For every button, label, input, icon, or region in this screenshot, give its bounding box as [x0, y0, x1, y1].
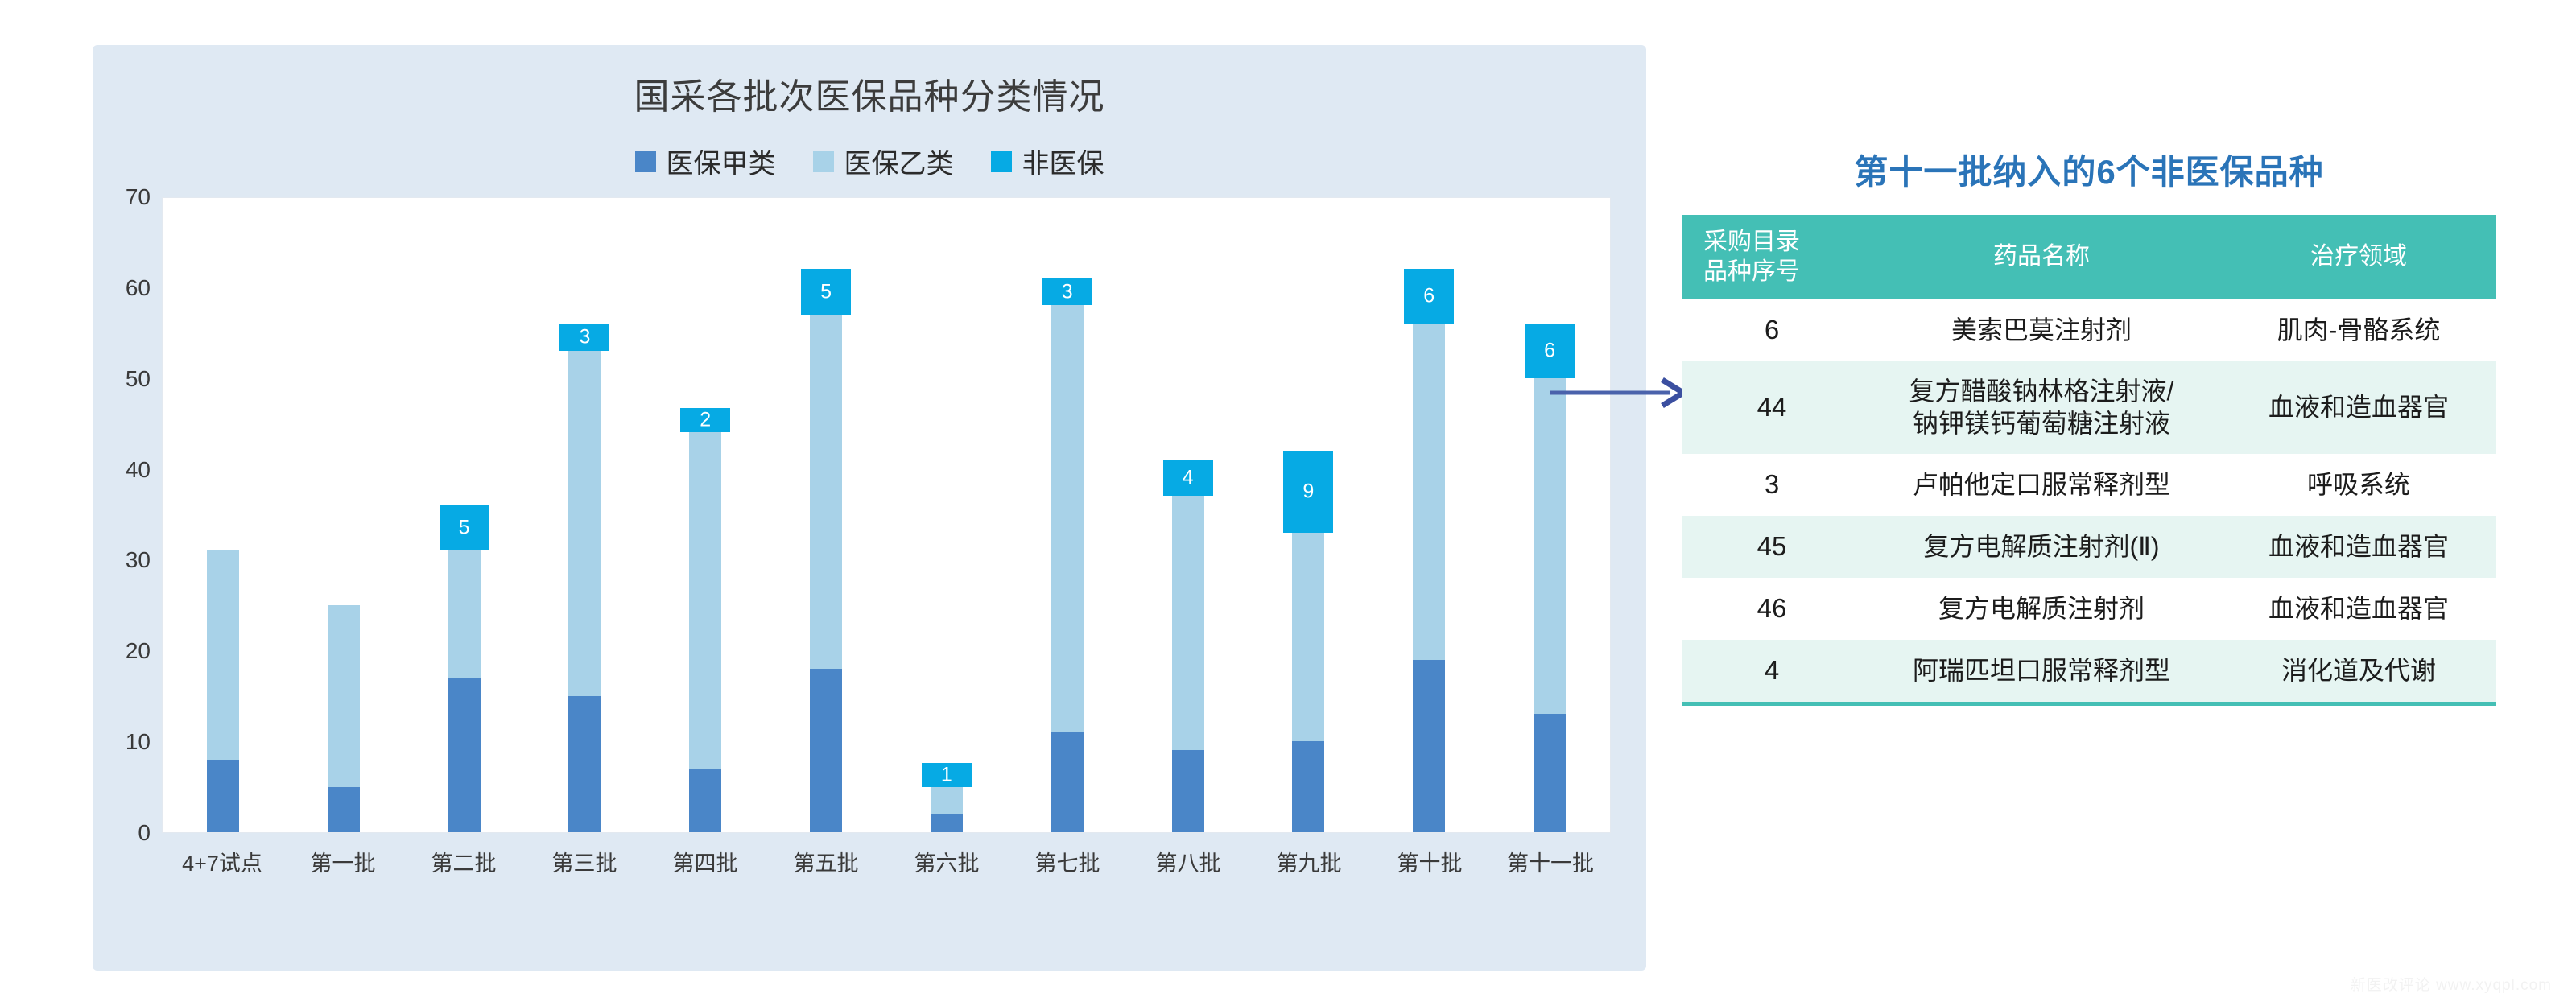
bar-segment-insurance-a[interactable]: [931, 814, 963, 832]
bar-slot-4[interactable]: 2: [645, 198, 766, 832]
bar-slot-3[interactable]: 3: [524, 198, 645, 832]
bar-segment-insurance-b[interactable]: [207, 550, 239, 760]
bar-segment-non-insurance[interactable]: 6: [1404, 269, 1454, 324]
cell-therapeutic-area: 肌肉-骨骼系统: [2222, 299, 2495, 361]
cell-catalog-no: 46: [1682, 578, 1861, 640]
x-axis-tick-7: 第七批: [1007, 846, 1128, 894]
bar-slot-8[interactable]: 4: [1128, 198, 1249, 832]
table-row[interactable]: 6美索巴莫注射剂肌肉-骨骼系统: [1682, 299, 2495, 361]
bar-segment-insurance-a[interactable]: [810, 669, 842, 832]
bar-slot-1[interactable]: [283, 198, 404, 832]
cell-catalog-no: 44: [1682, 361, 1861, 454]
table-header-row: 采购目录品种序号 药品名称 治疗领域: [1682, 215, 2495, 299]
x-axis-tick-0: 4+7试点: [162, 846, 283, 894]
bar-segment-insurance-b[interactable]: [328, 605, 360, 787]
y-axis-tick: 10: [126, 729, 151, 755]
table-row[interactable]: 4阿瑞匹坦口服常释剂型消化道及代谢: [1682, 640, 2495, 702]
table-bottom-border: [1682, 702, 2495, 706]
bar-stack[interactable]: [328, 605, 360, 832]
table-footer-rule: [1682, 702, 2495, 706]
cell-therapeutic-area: 消化道及代谢: [2222, 640, 2495, 702]
y-axis-tick: 30: [126, 547, 151, 573]
bar-group: 5325134966: [163, 198, 1610, 832]
bar-value-label: 4: [1183, 468, 1194, 488]
bar-segment-insurance-b[interactable]: [568, 351, 601, 696]
table-row[interactable]: 44复方醋酸钠林格注射液/钠钾镁钙葡萄糖注射液血液和造血器官: [1682, 361, 2495, 454]
cell-catalog-no: 45: [1682, 516, 1861, 578]
bar-slot-9[interactable]: 9: [1248, 198, 1368, 832]
bar-segment-insurance-b[interactable]: [1534, 378, 1566, 715]
bar-value-label: 9: [1302, 481, 1314, 501]
y-axis-tick: 0: [138, 820, 151, 846]
bar-segment-insurance-a[interactable]: [448, 678, 481, 832]
y-axis-tick: 70: [126, 184, 151, 210]
bar-segment-insurance-a[interactable]: [1172, 750, 1204, 832]
cell-catalog-no: 3: [1682, 454, 1861, 516]
bar-value-label: 5: [820, 282, 832, 302]
chart-panel: 国采各批次医保品种分类情况 医保甲类医保乙类非医保 70605040302010…: [93, 45, 1646, 971]
x-axis-tick-9: 第九批: [1249, 846, 1369, 894]
bar-stack[interactable]: 3: [1051, 305, 1084, 832]
table-row[interactable]: 3卢帕他定口服常释剂型呼吸系统: [1682, 454, 2495, 516]
legend-label: 医保甲类: [667, 142, 776, 181]
legend-swatch-icon: [635, 151, 656, 172]
connector-arrow: [1550, 377, 1695, 409]
bar-segment-insurance-b[interactable]: [1172, 496, 1204, 750]
x-axis-tick-2: 第二批: [403, 846, 524, 894]
y-axis-tick: 20: [126, 638, 151, 664]
bar-segment-insurance-a[interactable]: [1534, 714, 1566, 832]
bar-value-label: 5: [459, 517, 470, 538]
x-axis-tick-11: 第十一批: [1490, 846, 1611, 894]
bar-slot-5[interactable]: 5: [766, 198, 886, 832]
x-axis-tick-10: 第十批: [1369, 846, 1490, 894]
bar-value-label: 6: [1544, 340, 1555, 361]
bar-stack[interactable]: 2: [689, 432, 721, 832]
bar-segment-non-insurance[interactable]: 9: [1283, 451, 1333, 533]
table-row[interactable]: 45复方电解质注射剂(Ⅱ)血液和造血器官: [1682, 516, 2495, 578]
legend-feiyibao[interactable]: 非医保: [991, 142, 1104, 181]
cell-drug-name: 复方醋酸钠林格注射液/钠钾镁钙葡萄糖注射液: [1861, 361, 2222, 454]
y-axis-tick: 60: [126, 275, 151, 301]
bar-stack[interactable]: 4: [1172, 496, 1204, 832]
legend-label: 非医保: [1022, 142, 1104, 181]
bar-slot-2[interactable]: 5: [404, 198, 525, 832]
cell-therapeutic-area: 呼吸系统: [2222, 454, 2495, 516]
x-axis-tick-8: 第八批: [1128, 846, 1249, 894]
bar-value-label: 3: [1062, 282, 1073, 302]
bar-value-label: 6: [1423, 287, 1435, 307]
non-insurance-varieties-table: 采购目录品种序号 药品名称 治疗领域 6美索巴莫注射剂肌肉-骨骼系统44复方醋酸…: [1682, 215, 2495, 706]
bar-segment-insurance-b[interactable]: [1413, 324, 1445, 660]
table-panel: 第十一批纳入的6个非医保品种 采购目录品种序号 药品名称 治疗领域 6美索巴莫注…: [1682, 145, 2495, 706]
table-row[interactable]: 46复方电解质注射剂血液和造血器官: [1682, 578, 2495, 640]
bar-slot-11[interactable]: 6: [1489, 198, 1610, 832]
x-axis-tick-1: 第一批: [283, 846, 403, 894]
bar-segment-insurance-b[interactable]: [1051, 305, 1084, 732]
bar-segment-insurance-a[interactable]: [207, 760, 239, 832]
cell-drug-name: 复方电解质注射剂(Ⅱ): [1861, 516, 2222, 578]
legend-swatch-icon: [813, 151, 834, 172]
bar-segment-insurance-a[interactable]: [1051, 732, 1084, 832]
cell-therapeutic-area: 血液和造血器官: [2222, 516, 2495, 578]
cell-catalog-no: 6: [1682, 299, 1861, 361]
bar-stack[interactable]: 5: [448, 550, 481, 832]
bar-slot-7[interactable]: 3: [1007, 198, 1128, 832]
legend-yibao[interactable]: 医保乙类: [813, 142, 954, 181]
legend-swatch-icon: [991, 151, 1012, 172]
bar-stack[interactable]: [207, 550, 239, 832]
bar-value-label: 2: [700, 410, 711, 431]
bar-value-label: 3: [579, 327, 590, 347]
bar-segment-insurance-b[interactable]: [689, 432, 721, 769]
bar-segment-non-insurance[interactable]: 4: [1163, 460, 1213, 496]
bar-segment-non-insurance[interactable]: 1: [922, 763, 972, 787]
y-axis: 706050403020100: [93, 197, 162, 833]
table-header: 采购目录品种序号 药品名称 治疗领域: [1682, 215, 2495, 299]
x-axis-tick-6: 第六批: [886, 846, 1007, 894]
bar-segment-insurance-b[interactable]: [448, 550, 481, 678]
bar-slot-6[interactable]: 1: [886, 198, 1007, 832]
bar-segment-non-insurance[interactable]: 5: [440, 505, 489, 550]
x-axis-tick-3: 第三批: [524, 846, 645, 894]
cell-drug-name: 卢帕他定口服常释剂型: [1861, 454, 2222, 516]
bar-segment-insurance-b[interactable]: [1292, 533, 1324, 742]
infographic-root: 国采各批次医保品种分类情况 医保甲类医保乙类非医保 70605040302010…: [0, 0, 2576, 1006]
bar-segment-insurance-a[interactable]: [1292, 741, 1324, 832]
legend-label: 医保乙类: [844, 142, 954, 181]
bar-segment-insurance-a[interactable]: [1413, 660, 1445, 832]
cell-drug-name: 美索巴莫注射剂: [1861, 299, 2222, 361]
bar-slot-0[interactable]: [163, 198, 283, 832]
bar-stack[interactable]: 9: [1292, 533, 1324, 832]
bar-stack[interactable]: 6: [1413, 324, 1445, 832]
plot-area: 5325134966: [162, 197, 1611, 833]
cell-drug-name: 阿瑞匹坦口服常释剂型: [1861, 640, 2222, 702]
bar-segment-insurance-b[interactable]: [810, 315, 842, 669]
y-axis-tick: 50: [126, 366, 151, 392]
cell-therapeutic-area: 血液和造血器官: [2222, 578, 2495, 640]
cell-catalog-no: 4: [1682, 640, 1861, 702]
column-header-catalog-no: 采购目录品种序号: [1682, 215, 1861, 299]
bar-segment-insurance-b[interactable]: [931, 787, 963, 814]
cell-therapeutic-area: 血液和造血器官: [2222, 361, 2495, 454]
x-axis-tick-5: 第五批: [766, 846, 886, 894]
legend-jiabao[interactable]: 医保甲类: [635, 142, 776, 181]
watermark: 新医改评论 www.xyqpl.com: [2351, 973, 2552, 995]
bar-segment-non-insurance[interactable]: 6: [1525, 324, 1575, 378]
cell-drug-name: 复方电解质注射剂: [1861, 578, 2222, 640]
y-axis-tick: 40: [126, 457, 151, 483]
table-title: 第十一批纳入的6个非医保品种: [1682, 145, 2495, 194]
bar-stack[interactable]: 3: [568, 351, 601, 832]
bar-segment-insurance-a[interactable]: [568, 696, 601, 832]
column-header-therapeutic-area: 治疗领域: [2222, 215, 2495, 299]
column-header-drug-name: 药品名称: [1861, 215, 2222, 299]
bar-segment-insurance-a[interactable]: [328, 787, 360, 832]
table-body: 6美索巴莫注射剂肌肉-骨骼系统44复方醋酸钠林格注射液/钠钾镁钙葡萄糖注射液血液…: [1682, 299, 2495, 702]
bar-segment-non-insurance[interactable]: 3: [559, 324, 609, 351]
bar-segment-insurance-a[interactable]: [689, 769, 721, 832]
bar-segment-non-insurance[interactable]: 5: [801, 269, 851, 314]
bar-stack[interactable]: 6: [1534, 378, 1566, 832]
bar-value-label: 1: [941, 765, 952, 785]
x-axis-tick-4: 第四批: [645, 846, 766, 894]
bar-slot-10[interactable]: 6: [1368, 198, 1489, 832]
x-axis: 4+7试点第一批第二批第三批第四批第五批第六批第七批第八批第九批第十批第十一批: [162, 846, 1611, 894]
bar-segment-non-insurance[interactable]: 2: [680, 408, 730, 432]
bar-stack[interactable]: 1: [931, 787, 963, 832]
bar-segment-non-insurance[interactable]: 3: [1042, 278, 1092, 306]
bar-stack[interactable]: 5: [810, 315, 842, 832]
chart-legend: 医保甲类医保乙类非医保: [93, 142, 1646, 181]
page-title: 国采各批次医保品种分类情况: [93, 68, 1646, 119]
